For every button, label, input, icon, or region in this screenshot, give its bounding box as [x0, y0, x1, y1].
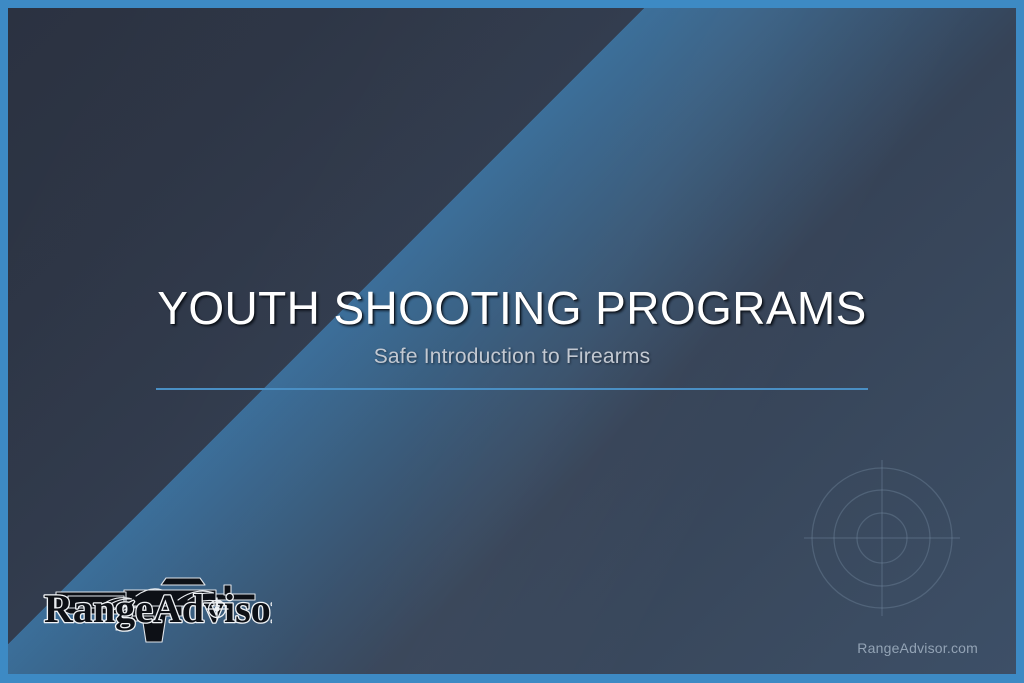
- slide-border-frame: YOUTH SHOOTING PROGRAMS Safe Introductio…: [0, 0, 1024, 683]
- page-title: YOUTH SHOOTING PROGRAMS: [8, 284, 1016, 333]
- brand-wordmark: RangeAdvisor: [44, 586, 272, 631]
- slide-canvas: YOUTH SHOOTING PROGRAMS Safe Introductio…: [8, 8, 1016, 674]
- crosshair-target-watermark-icon: [796, 452, 968, 624]
- footer-url-text: RangeAdvisor.com: [857, 640, 978, 656]
- brand-logo: RangeAdvisor: [28, 560, 272, 656]
- page-subtitle: Safe Introduction to Firearms: [8, 345, 1016, 369]
- title-block: YOUTH SHOOTING PROGRAMS Safe Introductio…: [8, 284, 1016, 369]
- accent-divider: [156, 388, 868, 390]
- brand-wordmark-text: RangeAdvisor: [44, 586, 272, 631]
